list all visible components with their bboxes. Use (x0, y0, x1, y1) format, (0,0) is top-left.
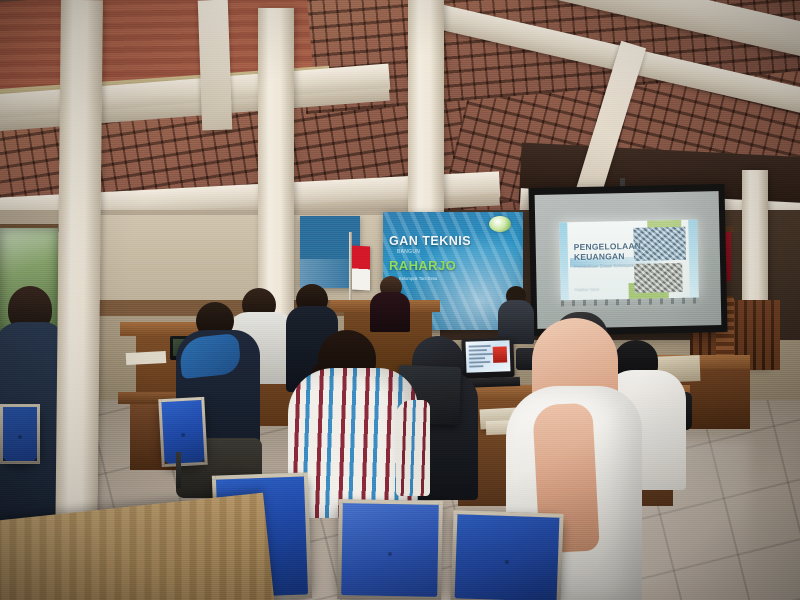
laptop-screen-text-line (469, 365, 483, 367)
chair-far-left (0, 404, 40, 464)
banner-line-3: RAHARJO (389, 258, 523, 273)
support-column-left (55, 0, 103, 560)
presentation-slide: PENGELOLAAN KEUANGAN Pembukuan Dasar Kel… (559, 220, 699, 301)
chair-front-center (337, 499, 443, 600)
projection-screen: PENGELOLAAN KEUANGAN Pembukuan Dasar Kel… (528, 184, 727, 336)
photo-scene: GAN TEKNIS BANGUN RAHARJO Kelompok Tani … (0, 0, 800, 600)
chair-mid-left-leg (176, 452, 181, 488)
laptop-screen-text-line (469, 357, 485, 359)
indonesian-flag (352, 246, 370, 291)
projection-screen-surface: PENGELOLAAN KEUANGAN Pembukuan Dasar Kel… (535, 191, 722, 329)
banner-line-2: BANGUN (397, 249, 517, 255)
banner-line-4: Kelompok Tani Desa (399, 276, 479, 282)
laptop-screen-red-banner (493, 346, 508, 362)
open-laptop-screen (465, 340, 510, 373)
laptop-screen-text-line (469, 353, 493, 355)
slide-left-accent-bar (559, 222, 569, 300)
slide-footer: Pelatihan Teknis (575, 287, 625, 292)
ceiling-tie-beam (198, 0, 233, 130)
banner-line-1: GAN TEKNIS (389, 234, 521, 248)
laptop-screen-text-line (469, 349, 487, 351)
laptop-screen-text-line (469, 361, 490, 363)
papers-left-desk (126, 351, 167, 365)
presenter-body (370, 292, 410, 332)
attendee-striped-shirt-arm (396, 400, 430, 496)
slide-title: PENGELOLAAN KEUANGAN (574, 241, 652, 263)
laptop-screen-text-line (469, 345, 491, 347)
banner-logo-icon (489, 216, 511, 232)
chair-front-right (450, 510, 563, 600)
slide-right-accent-bar (688, 220, 699, 298)
slide-title-line-2: KEUANGAN (574, 250, 652, 262)
chair-mid-left (158, 397, 207, 467)
